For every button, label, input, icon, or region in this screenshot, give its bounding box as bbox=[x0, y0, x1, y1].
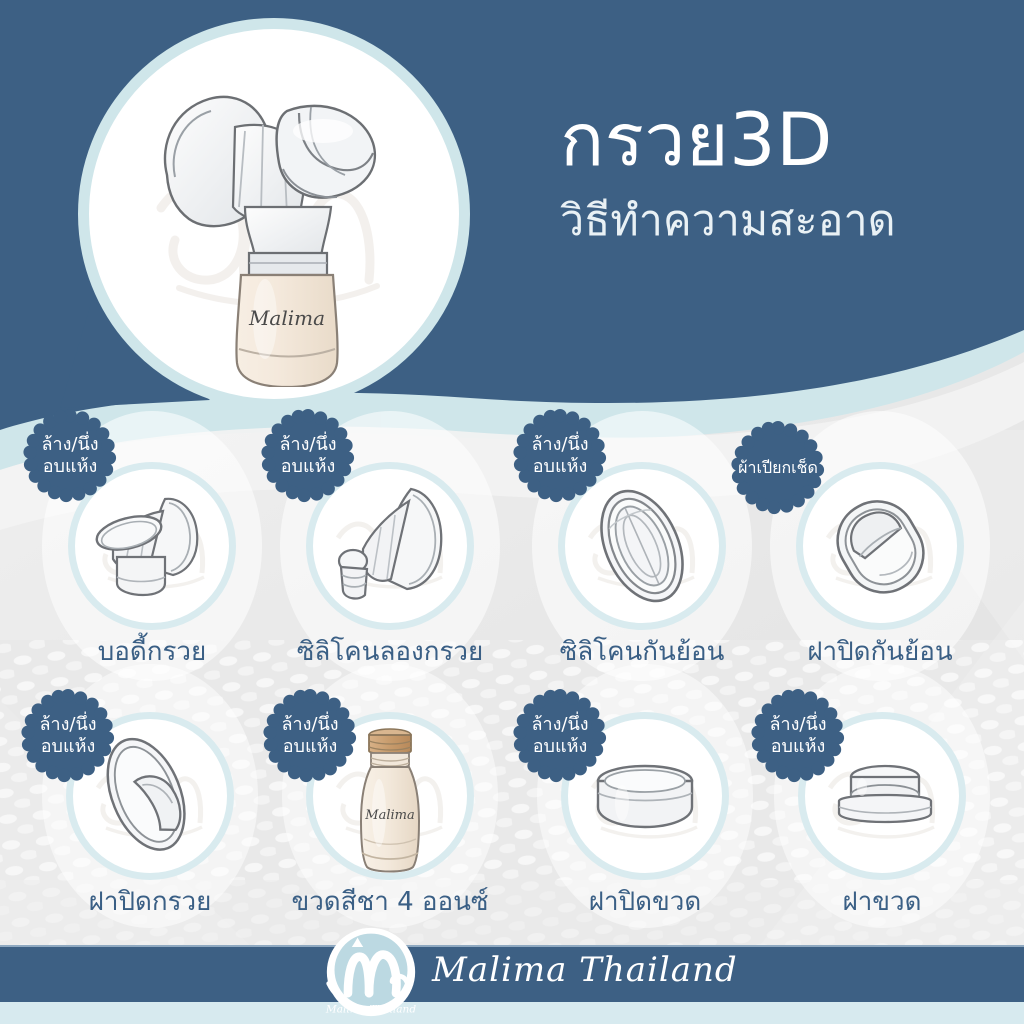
product-caption: ฝาปิดกันย้อน bbox=[744, 638, 1016, 668]
footer-brand-name: Malima Thailand bbox=[432, 950, 738, 990]
product-caption: ฝาปิดขวด bbox=[509, 888, 781, 918]
footer-bottom-strip bbox=[0, 1002, 1024, 1024]
badge-wash-steam-dry: ล้าง/นึ่ง อบแห้ง bbox=[20, 688, 116, 784]
badge-wet-cloth-wipe: ผ้าเปียกเช็ด bbox=[730, 420, 826, 516]
badge-text: ล้าง/นึ่ง อบแห้ง bbox=[278, 714, 341, 759]
product-caption: ฝาขวด bbox=[746, 888, 1018, 918]
product-caption: ขวดสีชา 4 ออนซ์ bbox=[254, 888, 526, 918]
badge-wash-steam-dry: ล้าง/นึ่ง อบแห้ง bbox=[260, 408, 356, 504]
backflow-cover-icon bbox=[805, 471, 955, 621]
badge-wash-steam-dry: ล้าง/นึ่ง อบแห้ง bbox=[750, 688, 846, 784]
malima-logo-icon: Malima Thailand bbox=[323, 924, 419, 1020]
badge-wash-steam-dry: ล้าง/นึ่ง อบแห้ง bbox=[512, 688, 608, 784]
bottle-brand-text: Malima bbox=[364, 808, 414, 823]
page-title: กรวย3D bbox=[560, 104, 990, 178]
logo-caption-text: Malima Thailand bbox=[325, 1003, 416, 1015]
product-caption: ฝาปิดกรวย bbox=[14, 888, 286, 918]
badge-wash-steam-dry: ล้าง/นึ่ง อบแห้ง bbox=[262, 688, 358, 784]
badge-text: ล้าง/นึ่ง อบแห้ง bbox=[36, 714, 99, 759]
product-caption: บอดี้กรวย bbox=[16, 638, 288, 668]
badge-wash-steam-dry: ล้าง/นึ่ง อบแห้ง bbox=[22, 408, 118, 504]
hero-product-bubble: Malima bbox=[78, 18, 470, 410]
badge-text: ล้าง/นึ่ง อบแห้ง bbox=[276, 434, 339, 479]
product-caption: ซิลิโคนลองกรวย bbox=[254, 638, 526, 668]
product-caption: ซิลิโคนกันย้อน bbox=[506, 638, 778, 668]
hero-breast-pump-illustration: Malima bbox=[123, 57, 443, 387]
badge-text: ล้าง/นึ่ง อบแห้ง bbox=[766, 714, 829, 759]
hero-bottle-brand-text: Malima bbox=[248, 306, 325, 330]
badge-text: ล้าง/นึ่ง อบแห้ง bbox=[528, 434, 591, 479]
badge-text: ล้าง/นึ่ง อบแห้ง bbox=[528, 714, 591, 759]
badge-wash-steam-dry: ล้าง/นึ่ง อบแห้ง bbox=[512, 408, 608, 504]
badge-text: ผ้าเปียกเช็ด bbox=[735, 458, 821, 478]
infographic-canvas: Malima กรวย3D วิธีทำความสะอาด bbox=[0, 0, 1024, 1024]
page-subtitle: วิธีทำความสะอาด bbox=[560, 198, 990, 245]
badge-text: ล้าง/นึ่ง อบแห้ง bbox=[38, 434, 101, 479]
